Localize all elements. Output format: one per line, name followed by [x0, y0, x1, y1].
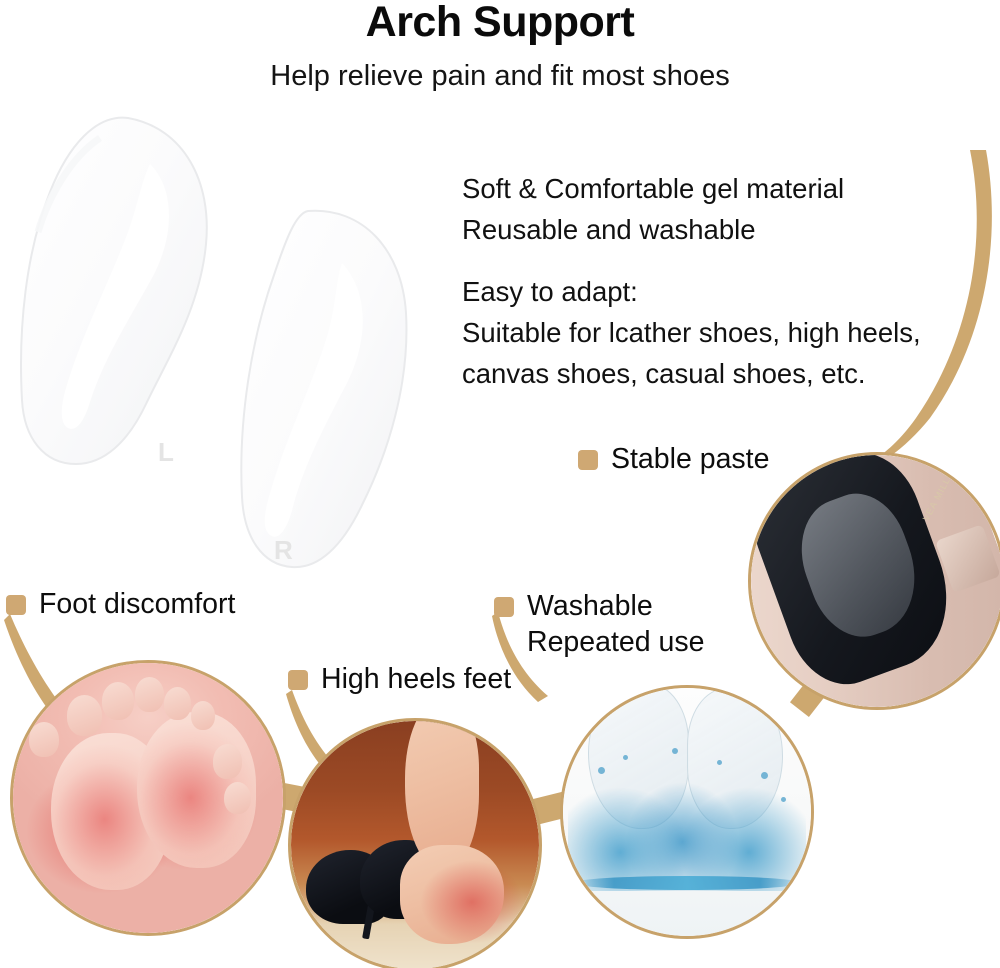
feature-line-2: Reusable and washable	[462, 209, 1000, 250]
gel-pad-right-letter: R	[274, 535, 294, 566]
feature-line-4: Suitable for lcather shoes, high heels,	[462, 312, 1000, 353]
high-heels-image	[291, 721, 539, 968]
bullet-marker-icon	[288, 670, 308, 690]
page-subtitle: Help relieve pain and fit most shoes	[0, 60, 1000, 93]
page-title: Arch Support	[0, 0, 1000, 47]
infographic-canvas: Arch Support Help relieve pain and fit m…	[0, 0, 1000, 968]
feature-line-1: Soft & Comfortable gel material	[462, 168, 1000, 209]
shoe-with-gel-image: VEA MILLETE	[751, 455, 1000, 707]
callout-washable-label-line2: Repeated use	[527, 624, 704, 660]
feature-copy: Soft & Comfortable gel material Reusable…	[462, 168, 1000, 394]
callout-high-heels-feet-label: High heels feet	[321, 661, 511, 697]
feature-line-3: Easy to adapt:	[462, 271, 1000, 312]
callout-stable-paste-label: Stable paste	[611, 441, 769, 477]
callout-foot-discomfort[interactable]: Foot discomfort	[6, 586, 235, 622]
callout-stable-paste[interactable]: Stable paste	[578, 441, 769, 477]
feet-pain-image	[13, 663, 283, 933]
callout-washable[interactable]: Washable Repeated use	[494, 588, 704, 660]
bullet-marker-icon	[578, 450, 598, 470]
photo-high-heels-feet	[288, 718, 542, 968]
callout-washable-label-line1: Washable	[527, 588, 704, 624]
gel-pad-left: L	[8, 112, 223, 472]
bullet-marker-icon	[494, 597, 514, 617]
gel-pad-right: R	[222, 205, 422, 575]
photo-foot-discomfort	[10, 660, 286, 936]
water-splash-image	[563, 688, 811, 936]
photo-washable	[560, 685, 814, 939]
callout-foot-discomfort-label: Foot discomfort	[39, 586, 235, 622]
feature-line-5: canvas shoes, casual shoes, etc.	[462, 353, 1000, 394]
callout-high-heels-feet[interactable]: High heels feet	[288, 661, 511, 697]
photo-stable-paste: VEA MILLETE	[748, 452, 1000, 710]
gel-pad-left-letter: L	[158, 437, 175, 468]
bullet-marker-icon	[6, 595, 26, 615]
